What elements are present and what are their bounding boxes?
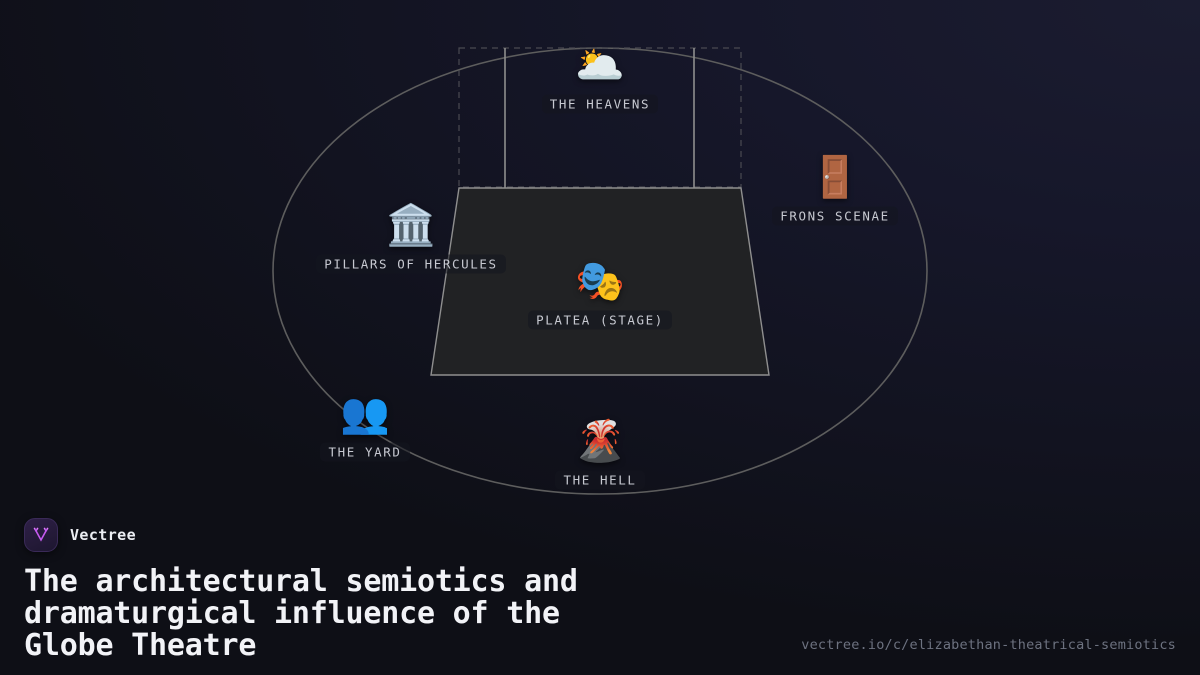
brand-name: Vectree <box>70 526 136 544</box>
vectree-logo-badge <box>24 518 58 552</box>
node-the-yard[interactable]: 👥 THE YARD <box>235 391 495 462</box>
volcano-icon: 🌋 <box>575 419 625 465</box>
performing-arts-icon: 🎭 <box>575 259 625 305</box>
sun-behind-cloud-icon: 🌥️ <box>575 43 625 89</box>
page-title: The architectural semiotics and dramatur… <box>24 566 784 662</box>
door-icon: 🚪 <box>810 155 860 201</box>
busts-in-silhouette-icon: 👥 <box>340 391 390 437</box>
node-label-the-hell: THE HELL <box>555 471 644 490</box>
poster-footer: Vectree The architectural semiotics and … <box>0 490 1200 675</box>
node-label-platea-stage: PLATEA (STAGE) <box>528 311 672 330</box>
node-label-frons-scenae: FRONS SCENAE <box>772 207 898 226</box>
node-label-heavens: THE HEAVENS <box>542 95 658 114</box>
vectree-sprout-icon <box>31 525 51 545</box>
node-frons-scenae[interactable]: 🚪 FRONS SCENAE <box>705 155 965 226</box>
brand-block[interactable]: Vectree <box>24 518 136 552</box>
node-platea-stage[interactable]: 🎭 PLATEA (STAGE) <box>470 259 730 330</box>
classical-building-icon: 🏛️ <box>386 203 436 249</box>
node-the-hell[interactable]: 🌋 THE HELL <box>470 419 730 490</box>
source-url: vectree.io/c/elizabethan-theatrical-semi… <box>801 637 1176 653</box>
node-label-the-yard: THE YARD <box>320 443 409 462</box>
poster-canvas: 🌥️ THE HEAVENS 🚪 FRONS SCENAE 🏛️ PILLARS… <box>0 0 1200 675</box>
node-heavens[interactable]: 🌥️ THE HEAVENS <box>470 43 730 114</box>
